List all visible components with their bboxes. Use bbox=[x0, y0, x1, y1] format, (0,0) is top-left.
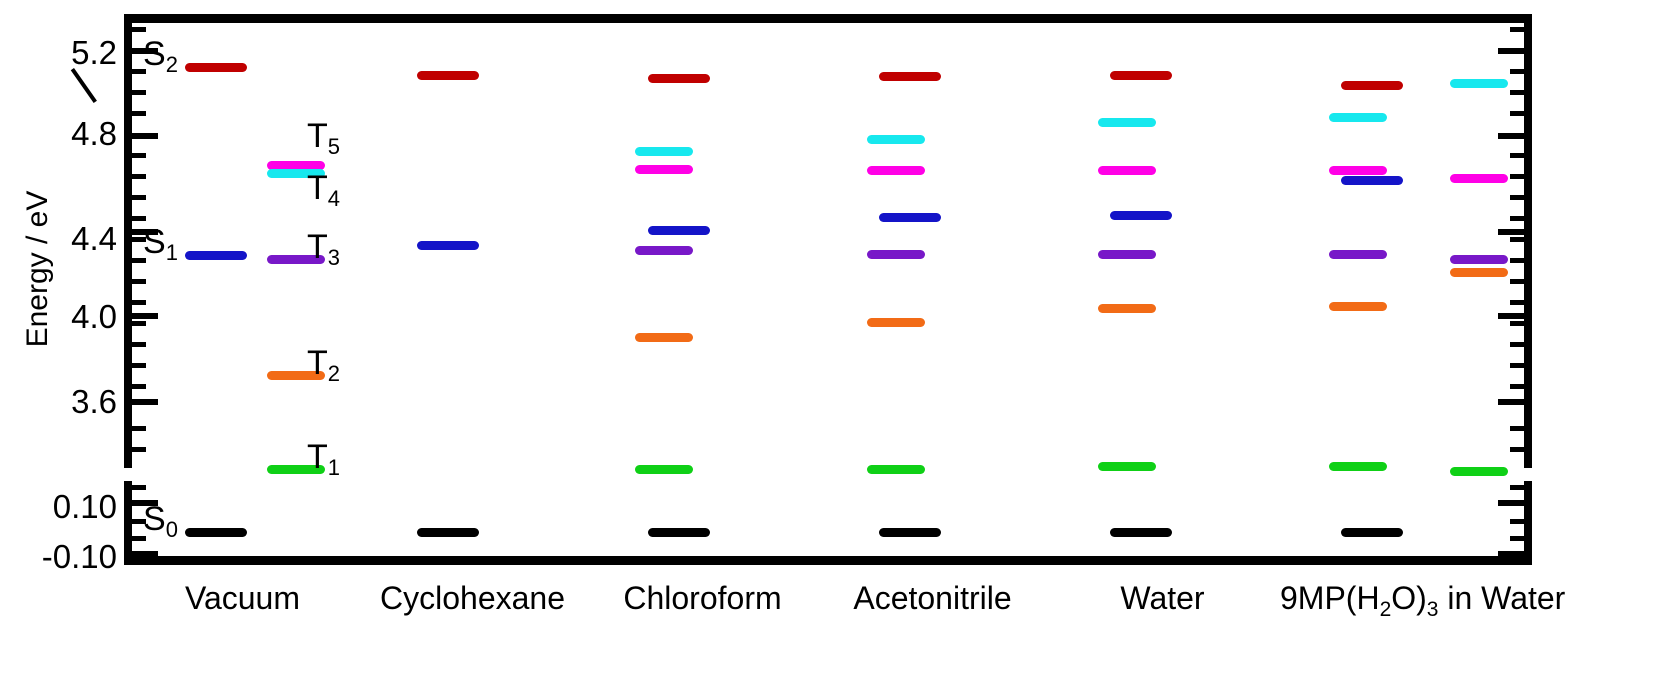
state-label-S1: S1 bbox=[143, 225, 178, 259]
y-minor-tick bbox=[1510, 69, 1524, 74]
state-label-T3: T3 bbox=[307, 230, 340, 264]
level-acetonitrile-S1 bbox=[879, 213, 941, 222]
y-minor-tick bbox=[1510, 195, 1524, 200]
y-axis-lower-spine bbox=[124, 481, 132, 556]
y-minor-tick bbox=[1510, 384, 1524, 389]
level-chloroform-T4 bbox=[867, 135, 925, 144]
y-minor-tick bbox=[132, 485, 146, 490]
level-complex-S0 bbox=[1341, 528, 1403, 537]
state-label-S0: S0 bbox=[143, 502, 178, 536]
level-complex-T3 bbox=[1450, 255, 1508, 264]
right-axis-upper-spine bbox=[1524, 23, 1532, 468]
level-cyclohexane-T1 bbox=[635, 465, 693, 474]
y-minor-tick bbox=[1510, 153, 1524, 158]
level-water-T3 bbox=[1329, 250, 1387, 259]
level-water-S1 bbox=[1110, 211, 1172, 220]
x-label-chloroform: Chloroform bbox=[585, 582, 820, 614]
y-minor-tick bbox=[1510, 363, 1524, 368]
level-water-T1 bbox=[1329, 462, 1387, 471]
y-tick-label-3.6: 3.6 bbox=[71, 385, 117, 418]
level-cyclohexane-S1 bbox=[417, 241, 479, 250]
y-major-tick bbox=[1498, 500, 1524, 506]
y-major-tick bbox=[132, 313, 158, 319]
level-complex-T4 bbox=[1450, 79, 1508, 88]
level-water-S0 bbox=[1110, 528, 1172, 537]
state-label-T1: T1 bbox=[307, 440, 340, 474]
level-chloroform-T3 bbox=[867, 250, 925, 259]
y-tick-label-4.4: 4.4 bbox=[71, 222, 117, 255]
x-label-water: Water bbox=[1055, 582, 1270, 614]
level-water-T2 bbox=[1329, 302, 1387, 311]
y-minor-tick bbox=[132, 90, 146, 95]
level-complex-T2 bbox=[1450, 268, 1508, 277]
y-minor-tick bbox=[1510, 536, 1524, 541]
level-complex-T5 bbox=[1450, 174, 1508, 183]
y-minor-tick bbox=[1510, 321, 1524, 326]
level-cyclohexane-T2 bbox=[635, 333, 693, 342]
y-tick-label-5.2: 5.2 bbox=[71, 36, 117, 69]
level-chloroform-T1 bbox=[867, 465, 925, 474]
y-major-tick bbox=[1498, 48, 1524, 54]
level-cyclohexane-S2 bbox=[417, 71, 479, 80]
y-axis-title: Energy / eV bbox=[21, 139, 55, 399]
y-major-tick bbox=[132, 133, 158, 139]
state-label-S2: S2 bbox=[143, 37, 178, 71]
level-acetonitrile-T4 bbox=[1098, 118, 1156, 127]
level-chloroform-S0 bbox=[648, 528, 710, 537]
y-minor-tick bbox=[1510, 485, 1524, 490]
y-major-tick bbox=[132, 399, 158, 405]
level-vacuum-S1 bbox=[185, 251, 247, 260]
state-label-T5: T5 bbox=[307, 119, 340, 153]
y-minor-tick bbox=[1510, 519, 1524, 524]
y-major-tick bbox=[1498, 551, 1524, 557]
level-acetonitrile-S2 bbox=[879, 72, 941, 81]
energy-level-diagram: Energy / eV 5.2 4.8 4.4 4.0 3.6 0.10 -0.… bbox=[0, 0, 1657, 684]
y-minor-tick bbox=[132, 153, 146, 158]
y-minor-tick bbox=[1510, 111, 1524, 116]
y-major-tick bbox=[1498, 399, 1524, 405]
y-minor-tick bbox=[1510, 90, 1524, 95]
level-water-T4 bbox=[1329, 113, 1387, 122]
level-water-S2 bbox=[1110, 71, 1172, 80]
level-vacuum-S0 bbox=[185, 528, 247, 537]
y-minor-tick bbox=[1510, 342, 1524, 347]
level-acetonitrile-T3 bbox=[1098, 250, 1156, 259]
level-complex-S2 bbox=[1341, 81, 1403, 90]
y-major-tick bbox=[1498, 313, 1524, 319]
y-minor-tick bbox=[1510, 279, 1524, 284]
y-minor-tick bbox=[1510, 426, 1524, 431]
level-acetonitrile-T2 bbox=[1098, 304, 1156, 313]
x-label-cyclohexane: Cyclohexane bbox=[355, 582, 590, 614]
axis-break-icon bbox=[74, 68, 108, 102]
y-tick-label-4.0: 4.0 bbox=[71, 300, 117, 333]
y-minor-tick bbox=[132, 426, 146, 431]
level-chloroform-S1 bbox=[648, 226, 710, 235]
y-axis-upper-spine bbox=[124, 23, 132, 468]
y-minor-tick bbox=[132, 195, 146, 200]
state-label-T4: T4 bbox=[307, 171, 340, 205]
y-tick-label--0.10: -0.10 bbox=[42, 540, 117, 573]
y-tick-label-4.8: 4.8 bbox=[71, 117, 117, 150]
y-minor-tick bbox=[1510, 447, 1524, 452]
level-cyclohexane-T3 bbox=[635, 246, 693, 255]
x-label-complex: 9MP(H2O)3 in Water bbox=[1280, 582, 1657, 614]
y-minor-tick bbox=[1510, 27, 1524, 32]
y-minor-tick bbox=[1510, 258, 1524, 263]
y-major-tick bbox=[1498, 133, 1524, 139]
y-minor-tick bbox=[1510, 237, 1524, 242]
level-vacuum-S2 bbox=[185, 63, 247, 72]
y-major-tick bbox=[1498, 229, 1524, 235]
level-cyclohexane-T5 bbox=[635, 165, 693, 174]
level-cyclohexane-S0 bbox=[417, 528, 479, 537]
y-minor-tick bbox=[1510, 216, 1524, 221]
level-water-T5 bbox=[1329, 166, 1387, 175]
y-minor-tick bbox=[132, 27, 146, 32]
level-acetonitrile-S0 bbox=[879, 528, 941, 537]
y-minor-tick bbox=[1510, 300, 1524, 305]
plot-top-border bbox=[124, 14, 1532, 23]
state-label-T2: T2 bbox=[307, 346, 340, 380]
level-chloroform-T2 bbox=[867, 318, 925, 327]
level-complex-S1 bbox=[1341, 176, 1403, 185]
level-complex-T1 bbox=[1450, 467, 1508, 476]
right-axis-lower-spine bbox=[1524, 481, 1532, 556]
y-major-tick bbox=[132, 551, 158, 557]
x-label-acetonitrile: Acetonitrile bbox=[815, 582, 1050, 614]
y-minor-tick bbox=[1510, 174, 1524, 179]
y-minor-tick bbox=[132, 342, 146, 347]
y-minor-tick bbox=[132, 174, 146, 179]
y-minor-tick bbox=[132, 447, 146, 452]
y-minor-tick bbox=[132, 300, 146, 305]
plot-bottom-border bbox=[124, 556, 1532, 565]
level-acetonitrile-T1 bbox=[1098, 462, 1156, 471]
level-chloroform-S2 bbox=[648, 74, 710, 83]
y-minor-tick bbox=[132, 279, 146, 284]
y-minor-tick bbox=[132, 321, 146, 326]
y-minor-tick bbox=[132, 111, 146, 116]
y-minor-tick bbox=[132, 216, 146, 221]
level-cyclohexane-T4 bbox=[635, 147, 693, 156]
y-minor-tick bbox=[132, 384, 146, 389]
level-chloroform-T5 bbox=[867, 166, 925, 175]
level-acetonitrile-T5 bbox=[1098, 166, 1156, 175]
y-tick-label-0.10: 0.10 bbox=[53, 490, 117, 523]
x-label-vacuum: Vacuum bbox=[125, 582, 360, 614]
y-minor-tick bbox=[132, 363, 146, 368]
